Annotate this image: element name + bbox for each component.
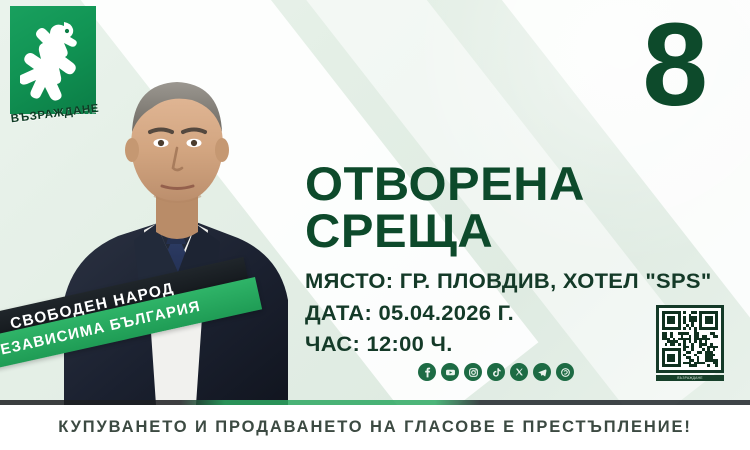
tiktok-icon[interactable] <box>487 363 505 381</box>
party-logo: ВЪЗРАЖДАНЕ <box>4 4 108 144</box>
legal-notice-banner: КУПУВАНЕТО И ПРОДАВАНЕТО НА ГЛАСОВЕ Е ПР… <box>0 405 750 450</box>
instagram-icon[interactable] <box>464 363 482 381</box>
social-links[interactable] <box>418 363 574 381</box>
legal-notice-text: КУПУВАНЕТО И ПРОДАВАНЕТО НА ГЛАСОВЕ Е ПР… <box>58 418 692 437</box>
youtube-icon[interactable] <box>441 363 459 381</box>
ballot-number: 8 <box>642 6 706 124</box>
qr-code[interactable] <box>656 305 724 373</box>
qr-caption: ВЪЗРАЖДАНЕ <box>656 375 724 381</box>
qr-modules <box>662 311 718 367</box>
threads-icon[interactable] <box>556 363 574 381</box>
campaign-poster: ВЪЗРАЖДАНЕ СВОБОДЕН НАРОД НЕЗАВИСИМА БЪЛ… <box>0 0 750 405</box>
qr-code-block[interactable]: ВЪЗРАЖДАНЕ <box>656 305 728 381</box>
rampant-lion-icon <box>20 16 86 102</box>
telegram-icon[interactable] <box>533 363 551 381</box>
banner-top-edge <box>0 400 750 405</box>
event-place: МЯСТО: ГР. ПЛОВДИВ, ХОТЕЛ "SPS" <box>305 266 733 297</box>
facebook-icon[interactable] <box>418 363 436 381</box>
page-title: ОТВОРЕНА СРЕЩА <box>305 160 742 254</box>
x-twitter-icon[interactable] <box>510 363 528 381</box>
